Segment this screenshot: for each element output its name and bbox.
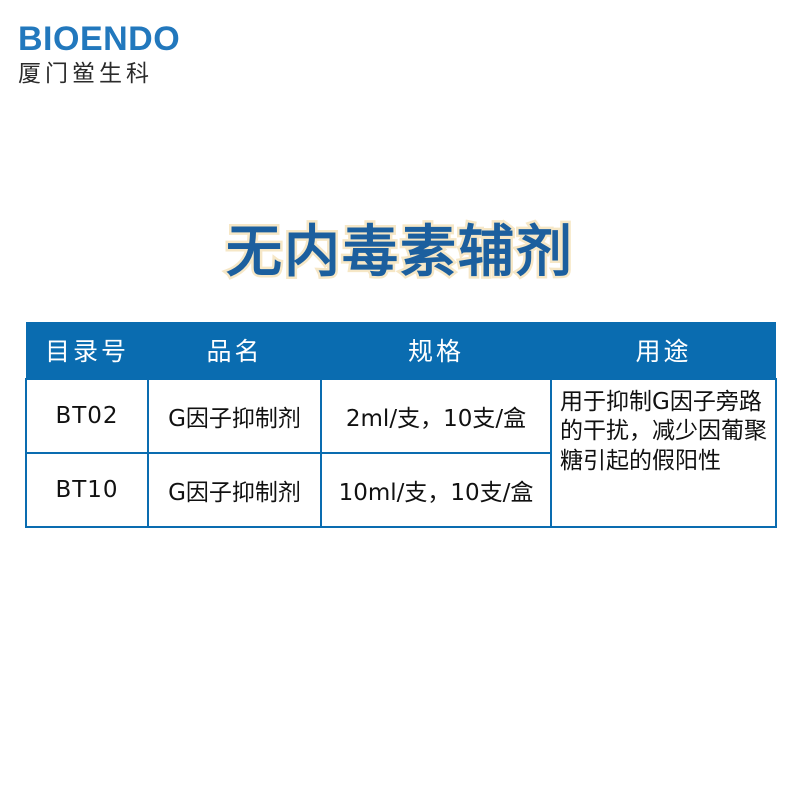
- page-title: 无内毒素辅剂: [226, 222, 574, 284]
- column-header-spec: 规格: [321, 322, 551, 379]
- cell-catalog-number: BT02: [26, 379, 148, 453]
- cell-specification: 2ml/支，10支/盒: [321, 379, 551, 453]
- logo-wordmark: BIOENDO: [18, 22, 268, 56]
- table-body: BT02 G因子抑制剂 2ml/支，10支/盒 用于抑制G因子旁路的干扰，减少因…: [26, 379, 776, 527]
- logo-subtitle: 厦门鲎生科: [18, 62, 268, 87]
- column-header-catalog: 目录号: [26, 322, 148, 379]
- cell-catalog-number: BT10: [26, 453, 148, 527]
- cell-product-name: G因子抑制剂: [148, 379, 321, 453]
- cell-usage-merged: 用于抑制G因子旁路的干扰，减少因葡聚糖引起的假阳性: [551, 379, 776, 527]
- product-spec-table-container: 目录号 品名 规格 用途 BT02 G因子抑制剂 2ml/支，10支/盒 用于抑…: [25, 322, 775, 528]
- company-logo: BIOENDO 厦门鲎生科: [18, 22, 268, 87]
- cell-specification: 10ml/支，10支/盒: [321, 453, 551, 527]
- table-row: BT02 G因子抑制剂 2ml/支，10支/盒 用于抑制G因子旁路的干扰，减少因…: [26, 379, 776, 453]
- table-header-row: 目录号 品名 规格 用途: [26, 322, 776, 379]
- product-spec-table: 目录号 品名 规格 用途 BT02 G因子抑制剂 2ml/支，10支/盒 用于抑…: [25, 322, 777, 528]
- table-header: 目录号 品名 规格 用途: [26, 322, 776, 379]
- page-title-container: 无内毒素辅剂: [0, 222, 800, 284]
- column-header-name: 品名: [148, 322, 321, 379]
- cell-product-name: G因子抑制剂: [148, 453, 321, 527]
- column-header-use: 用途: [551, 322, 776, 379]
